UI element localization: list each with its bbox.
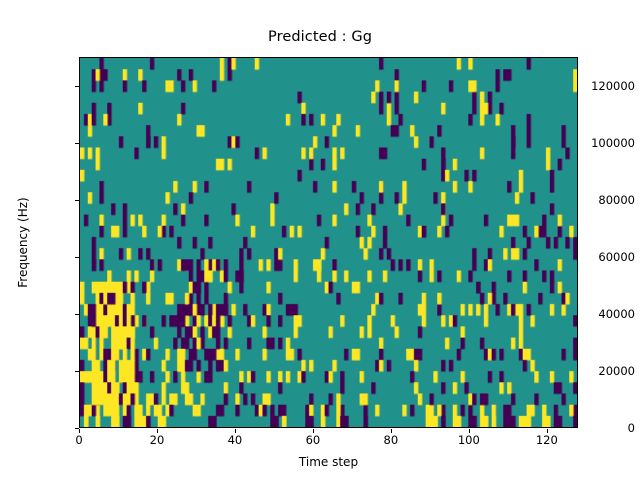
heatmap-canvas bbox=[80, 58, 577, 427]
x-tick-label: 100 bbox=[439, 433, 499, 447]
page-title: Predicted : Gg bbox=[0, 29, 640, 45]
x-tick-mark bbox=[469, 429, 470, 433]
x-tick-label: 120 bbox=[517, 433, 577, 447]
x-tick-label: 40 bbox=[205, 433, 265, 447]
x-tick-label: 80 bbox=[361, 433, 421, 447]
x-tick-mark bbox=[313, 429, 314, 433]
x-tick-mark bbox=[157, 429, 158, 433]
x-tick-mark bbox=[79, 429, 80, 433]
x-tick-label: 0 bbox=[49, 433, 109, 447]
x-axis-label: Time step bbox=[79, 455, 578, 469]
x-tick-mark bbox=[391, 429, 392, 433]
x-tick-label: 60 bbox=[283, 433, 343, 447]
matplotlib-figure: Predicted : Gg Frequency (Hz) 0200004000… bbox=[0, 0, 640, 480]
y-axis-label: Frequency (Hz) bbox=[16, 57, 30, 428]
x-tick-label: 20 bbox=[127, 433, 187, 447]
heatmap-axes bbox=[79, 57, 578, 428]
x-tick-mark bbox=[235, 429, 236, 433]
x-tick-mark bbox=[547, 429, 548, 433]
